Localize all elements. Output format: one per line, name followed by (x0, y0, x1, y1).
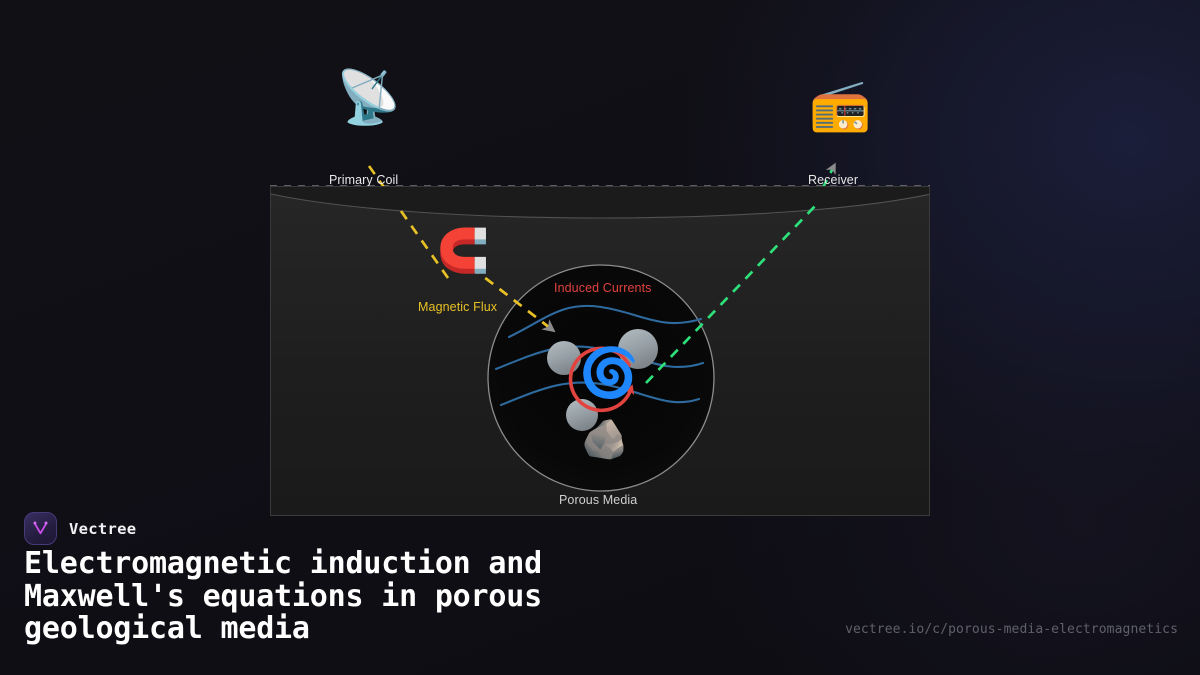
subsurface-panel: 🧲 🌀 🪨 Magnetic Flux Induced Currents Por… (270, 186, 930, 516)
vectree-v-logo-icon (24, 512, 57, 545)
magnetic-flux-label: Magnetic Flux (418, 300, 497, 314)
brand-name: Vectree (69, 520, 136, 538)
screenshot-canvas: 📡 📻 Primary Coil Receiver (0, 0, 1200, 675)
brand-block: Vectree (24, 512, 136, 545)
page-title: Electromagnetic induction and Maxwell's … (24, 548, 684, 646)
satellite-dish-icon: 📡 (336, 72, 401, 124)
cyclone-icon: 🌀 (579, 350, 639, 398)
v-glyph-icon (31, 519, 50, 538)
radio-icon: 📻 (809, 80, 871, 130)
source-url: vectree.io/c/porous-media-electromagneti… (845, 622, 1178, 637)
induced-currents-label: Induced Currents (554, 281, 652, 295)
primary-coil-label: Primary Coil (329, 173, 398, 187)
magnet-icon: 🧲 (437, 230, 489, 272)
receiver-label: Receiver (808, 173, 858, 187)
porous-media-label: Porous Media (559, 493, 637, 507)
pore-grain (547, 341, 581, 375)
rock-icon: 🪨 (581, 421, 628, 459)
